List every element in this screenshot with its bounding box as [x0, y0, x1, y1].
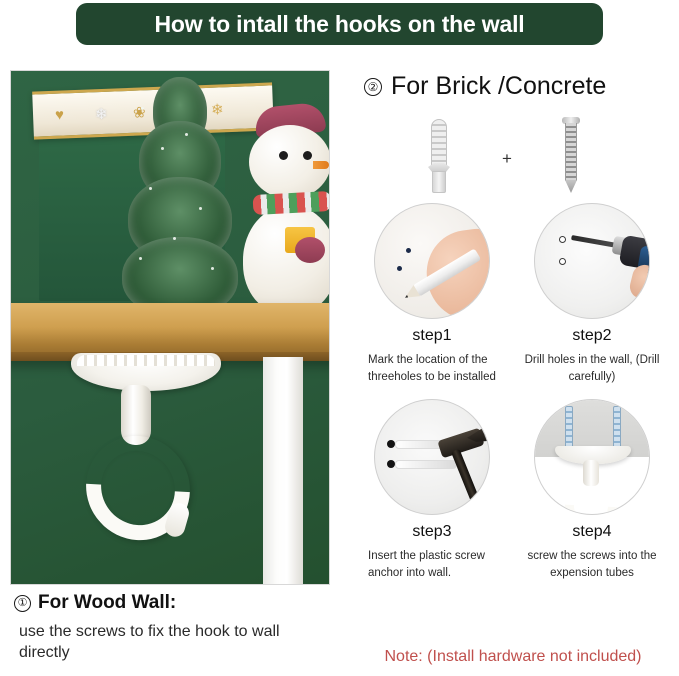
circled-number-two-icon: ② — [364, 78, 382, 96]
steps-row-top: step1 Mark the location of the threehole… — [352, 203, 672, 385]
step-label: step4 — [512, 523, 672, 541]
brick-title: For Brick /Concrete — [391, 72, 606, 101]
power-drill-icon — [534, 203, 650, 319]
wood-wall-heading: ① For Wood Wall: — [14, 592, 344, 614]
steps-grid: step1 Mark the location of the threehole… — [352, 203, 672, 582]
wood-wall-description: use the screws to fix the hook to wall d… — [19, 621, 319, 663]
mounted-hook-icon — [534, 399, 650, 515]
plus-sign: + — [502, 149, 512, 169]
step-cell-2: step2 Drill holes in the wall, (Drill ca… — [512, 203, 672, 385]
step-label: step1 — [352, 327, 512, 345]
step-description: Drill holes in the wall, (Drill carefull… — [512, 352, 672, 385]
step-cell-3: step3 Insert the plastic screw anchor in… — [352, 399, 512, 581]
page-title: How to intall the hooks on the wall — [155, 11, 525, 38]
pencil-marking-wall-icon — [374, 203, 490, 319]
wood-wall-section: ① For Wood Wall: use the screws to fix t… — [14, 592, 344, 663]
hammer-icon — [374, 399, 490, 515]
snowflake-icon: ❄ — [95, 105, 108, 123]
snowman-scarf — [253, 191, 330, 215]
steps-row-bottom: step3 Insert the plastic screw anchor in… — [352, 399, 672, 581]
step-description: Insert the plastic screw anchor into wal… — [352, 548, 512, 581]
snowman-nose — [313, 161, 329, 169]
infographic-page: How to intall the hooks on the wall ♥ ❄ … — [0, 0, 679, 676]
white-column — [263, 357, 303, 585]
heart-icon: ♥ — [55, 106, 65, 123]
step-cell-1: step1 Mark the location of the threehole… — [352, 203, 512, 385]
snowman-mitten — [295, 237, 325, 263]
step-description: screw the screws into the expension tube… — [512, 548, 672, 581]
snowman-eye — [303, 151, 312, 160]
brick-heading: ② For Brick /Concrete — [364, 72, 672, 101]
header-banner: How to intall the hooks on the wall — [76, 3, 603, 45]
wood-wall-title: For Wood Wall: — [38, 592, 176, 614]
step-cell-4: step4 screw the screws into the expensio… — [512, 399, 672, 581]
step-label: step3 — [352, 523, 512, 541]
step-description: Mark the location of the threeholes to b… — [352, 352, 512, 385]
wall-anchor-icon — [428, 119, 450, 193]
snowman-eye — [279, 151, 288, 160]
screw-icon — [560, 117, 582, 193]
mounted-wall-hook — [71, 353, 221, 583]
hook-base-plate — [71, 353, 221, 391]
product-photo: ♥ ❄ ❀ ❄ — [10, 70, 330, 585]
pine-tree — [121, 77, 239, 327]
hardware-note: Note: (Install hardware not included) — [352, 648, 674, 666]
circled-number-one-icon: ① — [14, 595, 31, 612]
hardware-illustration: + — [352, 115, 672, 193]
brick-concrete-section: ② For Brick /Concrete + — [352, 72, 672, 582]
hook-curve — [65, 414, 212, 561]
step-label: step2 — [512, 327, 672, 345]
